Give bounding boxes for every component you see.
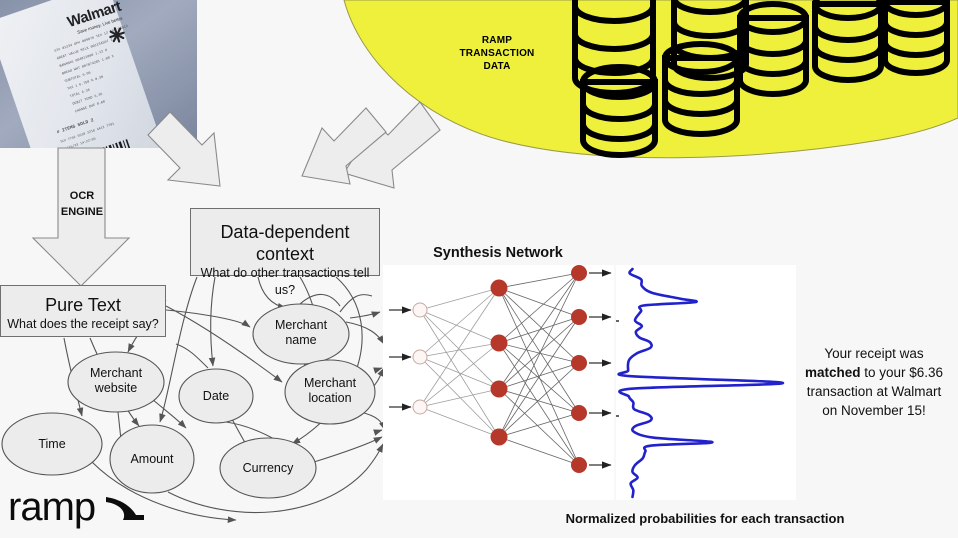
ramp-transaction-data-label: RAMP TRANSACTION DATA	[455, 34, 539, 73]
synthesis-network-panel	[383, 265, 796, 500]
network-node-output	[571, 457, 587, 473]
ramp-logo-wordmark: ramp	[8, 487, 95, 527]
data-dependent-context-box[interactable]: Data-dependent context What do other tra…	[190, 208, 380, 276]
node-merchant-name[interactable]	[253, 304, 349, 364]
network-node-input	[413, 400, 427, 414]
node-merchant-location[interactable]	[285, 360, 375, 424]
result-line-3: transaction at Walmart	[798, 382, 950, 401]
context-box-subtitle: What do other transactions tell us?	[191, 265, 379, 299]
node-amount[interactable]	[110, 425, 194, 493]
network-node-output	[571, 309, 587, 325]
network-node-hidden	[491, 335, 508, 352]
diagram-canvas: Walmart Save money. Live better.	[0, 0, 958, 538]
ocr-engine-label: OCR ENGINE	[51, 188, 113, 220]
network-node-output	[571, 405, 587, 421]
match-result-text: Your receipt was matched to your $6.36 t…	[798, 344, 950, 420]
result-line-4: on November 15!	[798, 401, 950, 420]
network-node-hidden	[491, 429, 508, 446]
network-node-output	[571, 265, 587, 281]
pure-text-box-title: Pure Text	[1, 294, 165, 316]
pure-text-box[interactable]: Pure Text What does the receipt say?	[0, 285, 166, 337]
node-merchant-website[interactable]	[68, 352, 164, 412]
result-bold-word: matched	[805, 365, 861, 380]
ramp-logo[interactable]: ramp	[8, 487, 147, 527]
result-line-2: matched to your $6.36	[798, 363, 950, 382]
context-box-title: Data-dependent context	[191, 221, 379, 265]
result-line-2-rest: to your $6.36	[860, 365, 943, 380]
ramp-swoosh-icon	[103, 490, 147, 524]
network-node-hidden	[491, 280, 508, 297]
synthesis-network-title: Synthesis Network	[383, 245, 613, 261]
node-date[interactable]	[179, 369, 253, 423]
network-node-output	[571, 355, 587, 371]
node-currency[interactable]	[220, 438, 316, 498]
network-node-input	[413, 303, 427, 317]
result-line-1: Your receipt was	[798, 344, 950, 363]
pure-text-box-subtitle: What does the receipt say?	[1, 316, 165, 333]
network-node-hidden	[491, 381, 508, 398]
network-node-input	[413, 350, 427, 364]
probabilities-caption: Normalized probabilities for each transa…	[520, 511, 890, 526]
node-time[interactable]	[2, 413, 102, 475]
